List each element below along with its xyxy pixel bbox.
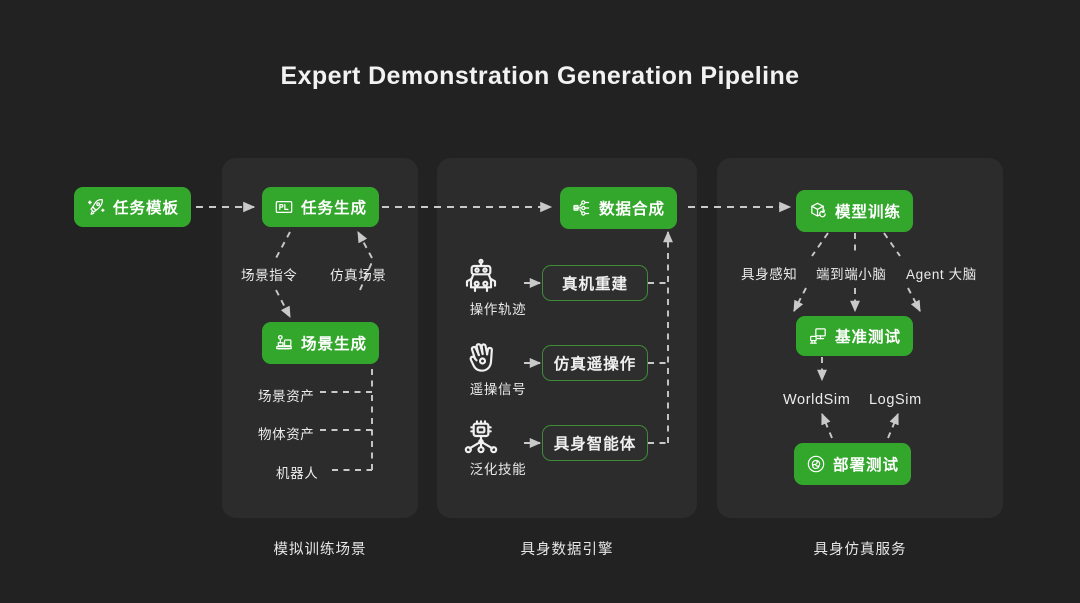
source-teleoperation-signal: 遥操信号: [461, 338, 535, 399]
node-label: 基准测试: [835, 325, 901, 347]
node-label: 具身智能体: [554, 432, 637, 454]
node-embodied-agent[interactable]: 具身智能体: [542, 425, 648, 461]
edge-label-embodied-perception: 具身感知: [741, 263, 797, 283]
chip-network-icon: [461, 418, 535, 458]
robot-arm-icon: [274, 333, 294, 353]
node-data-synthesis[interactable]: 数据合成: [560, 187, 677, 229]
node-label: 模型训练: [835, 200, 901, 222]
node-sim-teleoperation[interactable]: 仿真遥操作: [542, 345, 648, 381]
source-label: 泛化技能: [470, 462, 526, 477]
node-task-generation[interactable]: 任务生成: [262, 187, 379, 227]
swirl-circle-icon: [806, 454, 826, 474]
node-label: 真机重建: [562, 272, 628, 294]
prompt-code-icon: [274, 197, 294, 217]
node-label: 部署测试: [833, 453, 899, 475]
node-benchmark-test[interactable]: 基准测试: [796, 316, 913, 356]
node-label: 仿真遥操作: [554, 352, 637, 374]
edge-label-logsim: LogSim: [869, 392, 922, 408]
source-generalization-skill: 泛化技能: [461, 418, 535, 479]
edge-label-sim-scene: 仿真场景: [330, 264, 386, 284]
node-model-training[interactable]: 模型训练: [796, 190, 913, 232]
node-label: 任务生成: [301, 196, 367, 218]
node-deploy-test[interactable]: 部署测试: [794, 443, 911, 485]
node-real-machine-reconstruction[interactable]: 真机重建: [542, 265, 648, 301]
caption-panel-2: 具身数据引擎: [437, 538, 697, 559]
edge-label-worldsim: WorldSim: [783, 392, 850, 408]
pipeline-diagram: Expert Demonstration Generation Pipeline: [0, 0, 1080, 603]
caption-panel-1: 模拟训练场景: [222, 538, 418, 559]
edge-label-end-to-end-cerebellum: 端到端小脑: [816, 263, 887, 283]
page-title: Expert Demonstration Generation Pipeline: [0, 62, 1080, 91]
node-label: 场景生成: [301, 332, 367, 354]
node-task-template[interactable]: 任务模板: [74, 187, 191, 227]
robot-head-icon: [461, 258, 535, 298]
edge-label-robot: 机器人: [276, 462, 318, 482]
glove-hand-icon: [461, 338, 535, 378]
source-label: 操作轨迹: [470, 302, 526, 317]
source-label: 遥操信号: [470, 382, 526, 397]
cube-refresh-icon: [808, 201, 828, 221]
edge-label-agent-brain: Agent 大脑: [906, 263, 977, 283]
node-label: 任务模板: [113, 196, 179, 218]
edge-label-scene-instruction: 场景指令: [241, 264, 297, 284]
edge-label-object-asset: 物体资产: [258, 423, 314, 443]
monitor-test-icon: [808, 326, 828, 346]
caption-panel-3: 具身仿真服务: [717, 538, 1003, 559]
node-scene-generation[interactable]: 场景生成: [262, 322, 379, 364]
rocket-icon: [86, 197, 106, 217]
source-operation-trajectory: 操作轨迹: [461, 258, 535, 319]
node-label: 数据合成: [599, 197, 665, 219]
edge-label-scene-asset: 场景资产: [258, 385, 314, 405]
data-nodes-icon: [572, 198, 592, 218]
